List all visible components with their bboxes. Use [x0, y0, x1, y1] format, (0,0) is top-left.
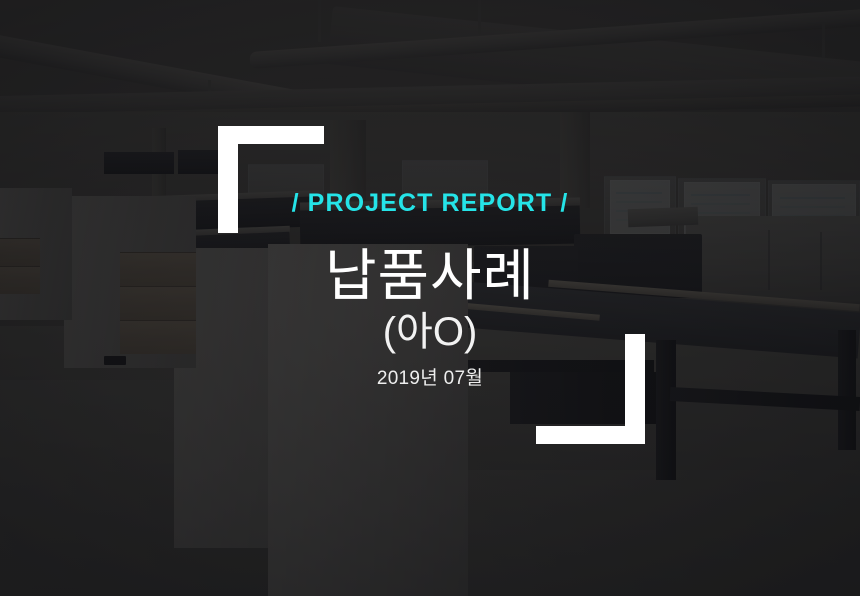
overlay-vignette — [0, 0, 860, 596]
corner-bracket-top-left-vertical — [218, 126, 238, 233]
corner-bracket-bottom-right-horizontal — [536, 426, 645, 444]
project-report-cover-slide: / PROJECT REPORT / 납품사례 (아O) 2019년 07월 — [0, 0, 860, 596]
